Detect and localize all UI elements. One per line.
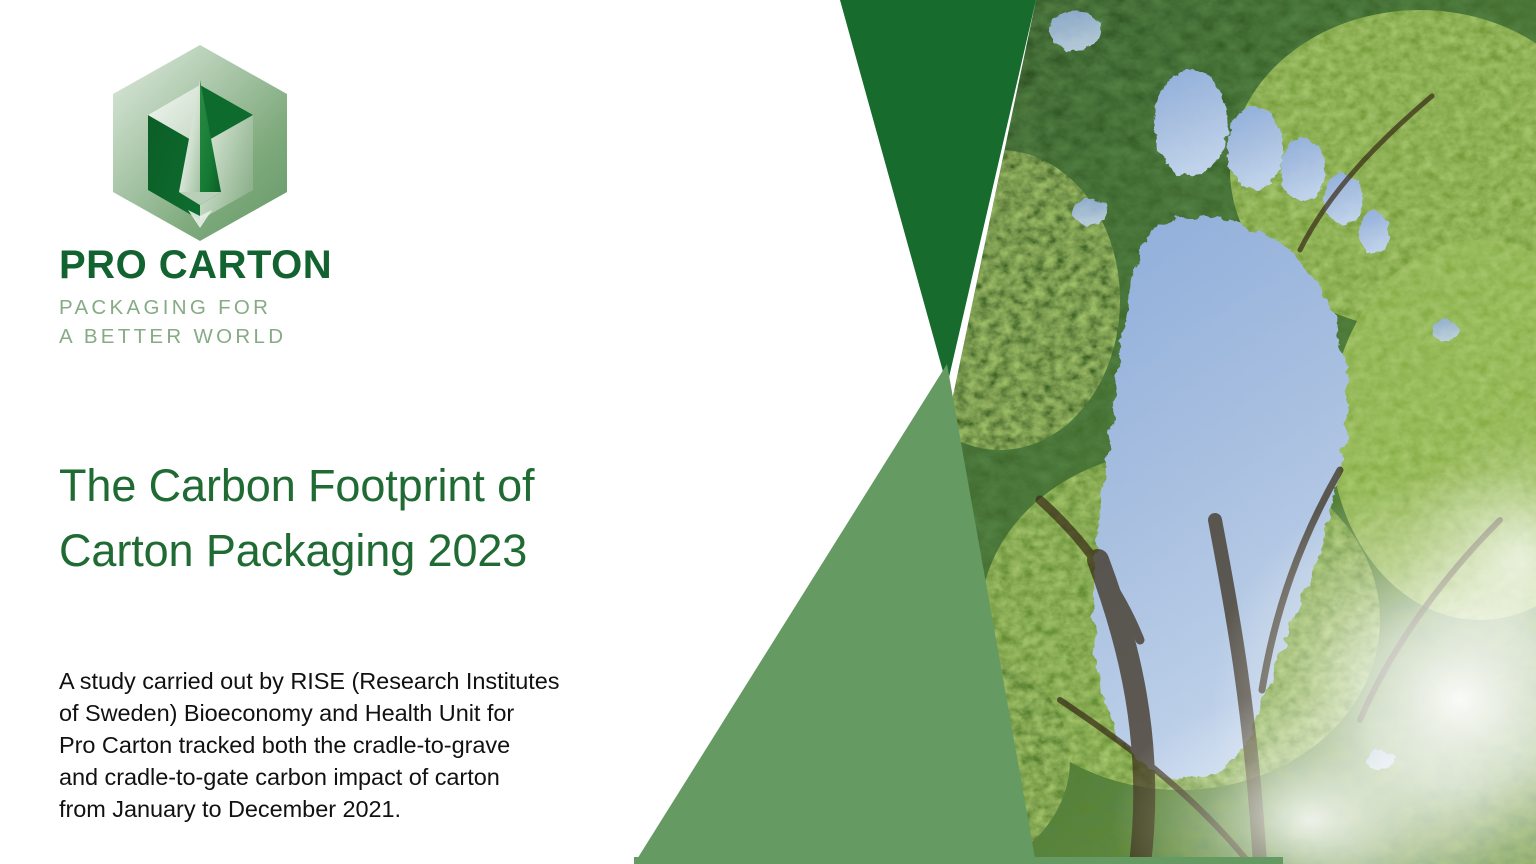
logo-tagline: PACKAGING FOR A BETTER WORLD <box>59 293 359 351</box>
logo-wordmark: PRO CARTON <box>59 244 359 286</box>
footprint-third-toe <box>1281 137 1325 201</box>
title-slide: PRO CARTON PACKAGING FOR A BETTER WORLD … <box>0 0 1536 864</box>
bottom-green-strip <box>634 857 1283 864</box>
content-column: PRO CARTON PACKAGING FOR A BETTER WORLD … <box>0 0 640 864</box>
footprint-second-toe <box>1227 107 1283 189</box>
pro-carton-hexagon-cube-logo-icon <box>105 42 295 242</box>
pro-carton-logo: PRO CARTON PACKAGING FOR A BETTER WORLD <box>59 42 359 351</box>
footprint-little-toe <box>1359 211 1389 253</box>
footprint-big-toe <box>1154 70 1228 176</box>
slide-description: A study carried out by RISE (Research In… <box>59 665 599 826</box>
page-title: The Carbon Footprint of Carton Packaging… <box>59 454 619 584</box>
